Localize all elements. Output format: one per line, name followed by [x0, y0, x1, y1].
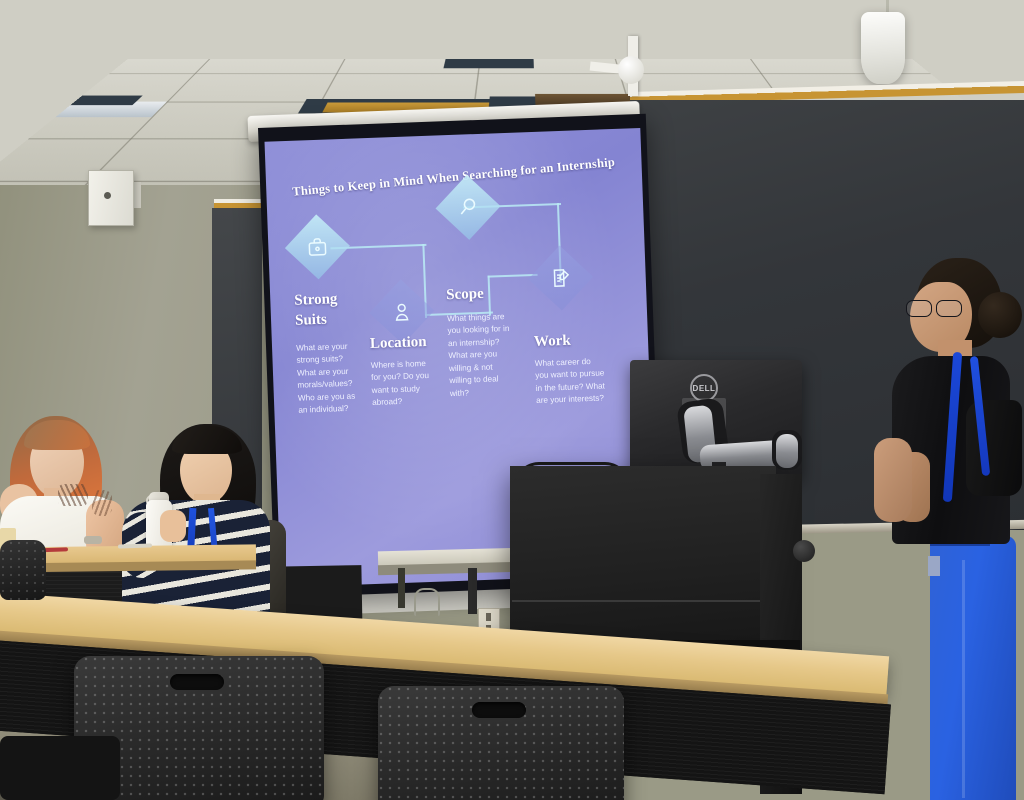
pendant-light-icon — [861, 12, 905, 84]
podium-lock-icon[interactable] — [793, 540, 815, 562]
chalkboard-left-trim — [214, 199, 266, 208]
magnifying-glass-icon — [456, 195, 481, 220]
section-heading-scope: Scope — [446, 286, 484, 304]
speaker-driver — [104, 192, 111, 199]
connector-segment-4 — [488, 276, 491, 316]
section-body-scope: What things are you looking for in an in… — [447, 311, 512, 400]
presenter-glasses — [906, 300, 970, 316]
podium-panel-seam — [512, 600, 774, 602]
student-left-tattoo — [58, 484, 88, 506]
diamond-work — [528, 246, 593, 311]
av-table-leg-left — [398, 568, 405, 608]
clipboard-pen-icon — [548, 266, 573, 291]
presenter-sleeve — [966, 400, 1022, 496]
section-heading-strong-suits-line2: Suits — [295, 312, 327, 330]
section-body-location: Where is home for you? Do you want to st… — [371, 358, 435, 410]
section-heading-location: Location — [370, 334, 427, 353]
presenter-forearm-left — [874, 438, 912, 522]
chair-base — [0, 736, 120, 800]
student-left-tattoo-arm — [92, 490, 112, 516]
monitor-arm — [676, 396, 802, 474]
screen-roller-knob — [618, 56, 644, 84]
student-left-watch — [84, 536, 102, 544]
section-heading-work: Work — [534, 333, 571, 351]
presenter-pants-seam — [962, 560, 965, 798]
section-body-strong-suits: What are your strong suits? What are you… — [296, 340, 361, 417]
av-table-leg — [468, 568, 477, 614]
cable-hook-icon — [414, 588, 440, 616]
presenter-badge — [928, 556, 940, 576]
presenter-hair-bun — [978, 292, 1022, 338]
section-body-work: What career do you want to pursue in the… — [535, 355, 607, 407]
section-heading-strong-suits-line1: Strong — [294, 291, 338, 310]
location-pin-icon — [389, 299, 414, 324]
wall-speaker-icon — [88, 170, 134, 226]
classroom-scene: Things to Keep in Mind When Searching fo… — [0, 0, 1024, 800]
presenter-pants — [930, 536, 1016, 800]
student-center-hand — [160, 510, 186, 542]
diamond-strong-suits — [285, 214, 350, 279]
briefcase-icon — [305, 234, 330, 259]
chair-back-row[interactable] — [0, 540, 46, 600]
chair-front-right[interactable] — [378, 686, 624, 800]
